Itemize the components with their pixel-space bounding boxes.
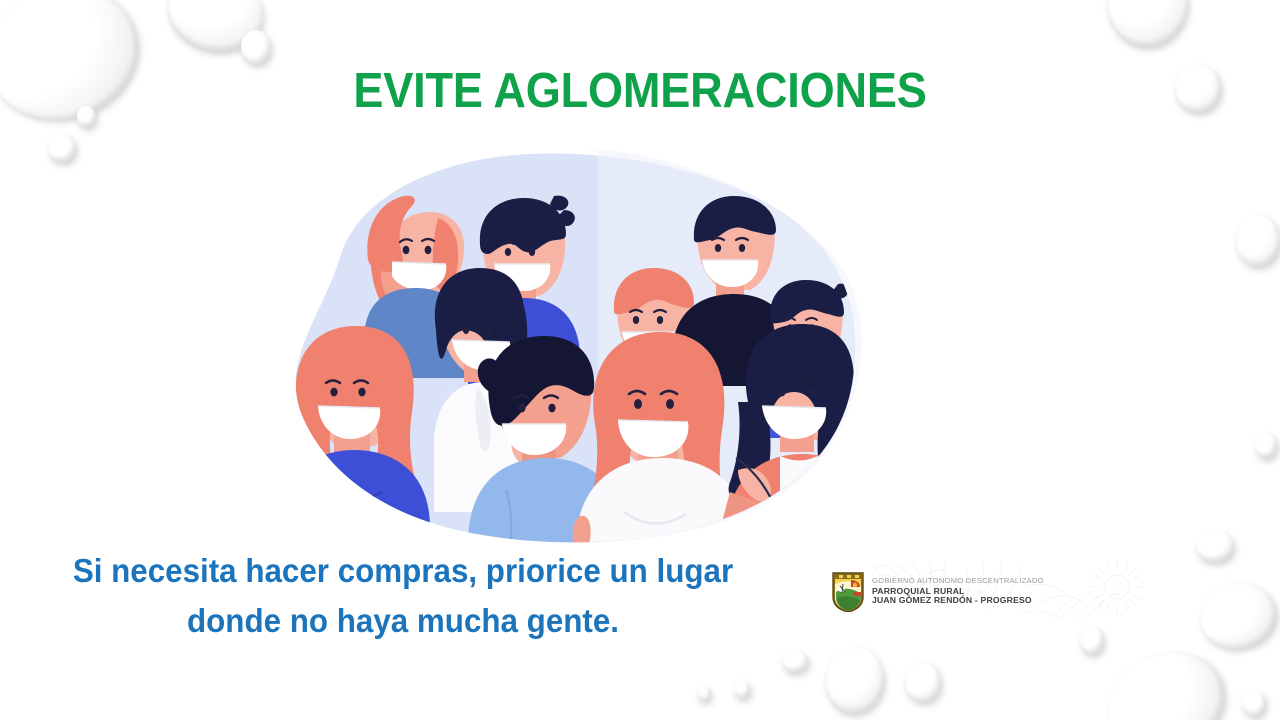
decorative-bubble	[48, 134, 76, 162]
crowd-illustration	[268, 140, 868, 545]
decorative-bubble	[697, 686, 711, 701]
logo-line-2: PARROQUIAL RURAL	[872, 587, 1044, 596]
decorative-bubble	[823, 644, 888, 716]
decorative-bubble	[1080, 626, 1104, 654]
caption-text: Si necesita hacer compras, priorice un l…	[62, 546, 744, 645]
decorative-bubble	[1093, 635, 1240, 720]
decorative-bubble	[1236, 214, 1280, 266]
logo-line-1: GOBIERNO AUTONOMO DESCENTRALIZADO	[872, 577, 1044, 585]
institution-name: GOBIERNO AUTONOMO DESCENTRALIZADO PARROQ…	[872, 577, 1044, 605]
decorative-bubble	[1196, 530, 1234, 562]
decorative-bubble	[782, 650, 808, 672]
institution-logo-banner: GOBIERNO AUTONOMO DESCENTRALIZADO PARROQ…	[825, 561, 1177, 619]
bag-body	[777, 533, 791, 545]
decorative-bubble	[1194, 577, 1280, 655]
decorative-bubble	[1255, 432, 1277, 458]
decorative-bubble	[160, 0, 272, 60]
decorative-bubble	[1102, 0, 1193, 51]
decorative-bubble	[905, 662, 941, 702]
slide-canvas: EVITE AGLOMERACIONES	[0, 0, 1280, 720]
person-front-left	[280, 326, 430, 545]
logo-line-3: JUAN GÓMEZ RENDÓN - PROGRESO	[872, 596, 1044, 605]
decorative-bubble	[734, 680, 750, 698]
parish-coat-of-arms-icon	[831, 570, 865, 612]
sun-motif	[1091, 561, 1143, 613]
decorative-bubble	[241, 30, 271, 64]
crowd-illustration-svg	[268, 140, 868, 545]
decorative-bubble	[1242, 690, 1266, 716]
page-title: EVITE AGLOMERACIONES	[51, 66, 1229, 118]
